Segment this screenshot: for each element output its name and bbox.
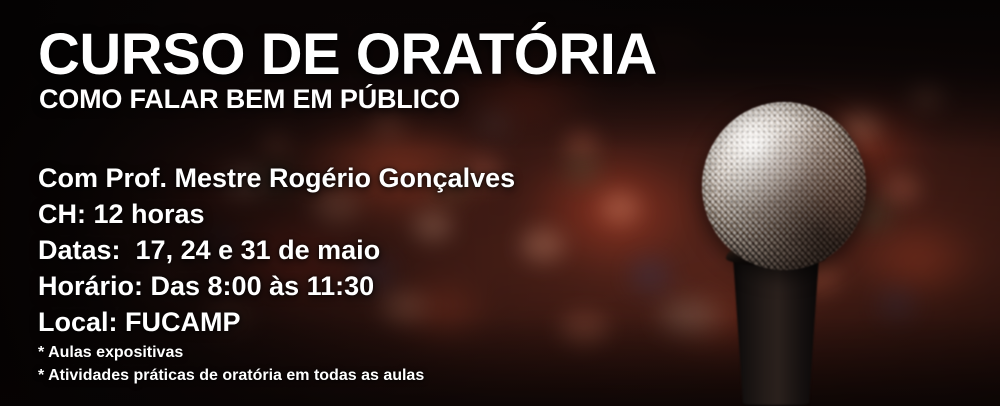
detail-location: Local: FUCAMP [38,304,515,340]
page-subtitle: COMO FALAR BEM EM PÚBLICO [39,86,460,113]
course-details-list: Com Prof. Mestre Rogério Gonçalves CH: 1… [38,160,515,340]
page-title: CURSO DE ORATÓRIA [38,26,657,84]
grille-mesh-dots [702,102,866,270]
microphone-body [728,245,825,405]
note-activities: * Atividades práticas de oratória em tod… [38,364,424,387]
microphone-collar [726,240,826,266]
microphone-stand [746,386,806,406]
detail-dates: Datas: 17, 24 e 31 de maio [38,232,515,268]
microphone-icon [700,100,900,406]
detail-instructor: Com Prof. Mestre Rogério Gonçalves [38,160,515,196]
grille-mesh-pattern [702,102,866,270]
course-promo-banner: CURSO DE ORATÓRIA COMO FALAR BEM EM PÚBL… [0,0,1000,406]
microphone-grille [702,102,866,270]
grille-warm-reflection [702,102,866,270]
grille-shading [702,102,866,270]
note-lectures: * Aulas expositivas [38,341,424,364]
detail-workload: CH: 12 horas [38,196,515,232]
banner-copy: CURSO DE ORATÓRIA COMO FALAR BEM EM PÚBL… [38,0,678,406]
course-notes-list: * Aulas expositivas * Atividades prática… [38,341,424,387]
detail-schedule: Horário: Das 8:00 às 11:30 [38,268,515,304]
